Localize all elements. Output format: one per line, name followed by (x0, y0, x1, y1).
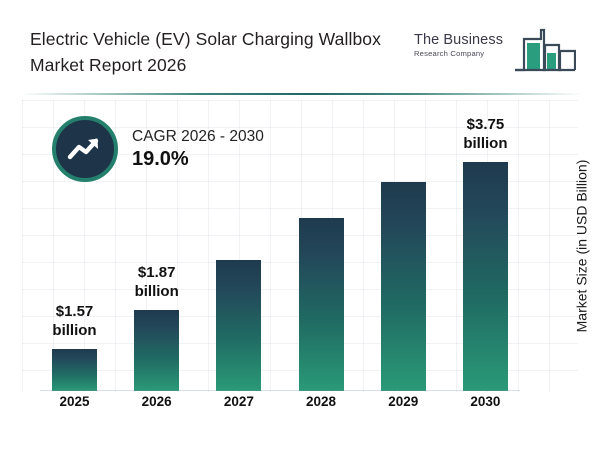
x-tick-2030: 2030 (463, 394, 508, 418)
logo-company-name: The Business (414, 32, 519, 48)
bar-2027[interactable] (216, 260, 261, 391)
x-tick-2026: 2026 (134, 394, 179, 418)
x-tick-2025: 2025 (52, 394, 97, 418)
bar-slot: $3.75billion (463, 100, 508, 391)
bar-slot: $1.87billion (134, 100, 179, 391)
bar-slot (216, 100, 261, 391)
chart-baseline (40, 390, 520, 391)
bar-2029[interactable] (381, 182, 426, 391)
bar-slot: $1.57billion (52, 100, 97, 391)
bar-2030[interactable] (463, 162, 508, 391)
y-axis-title-text: Market Size (in USD Billion) (573, 160, 589, 333)
bar-value-label: $1.87billion (135, 263, 179, 301)
page-title: Electric Vehicle (EV) Solar Charging Wal… (30, 26, 400, 78)
logo-company-subtitle: Research Company (414, 49, 519, 58)
chart-plot-area: $1.57billion$1.87billion$3.75billion (40, 100, 520, 391)
bar-slot (299, 100, 344, 391)
header: Electric Vehicle (EV) Solar Charging Wal… (0, 0, 600, 92)
x-axis-tick-labels: 202520262027202820292030 (40, 394, 520, 418)
bar-value-label: $3.75billion (463, 115, 507, 153)
x-tick-2028: 2028 (299, 394, 344, 418)
x-tick-2027: 2027 (216, 394, 261, 418)
bar-2028[interactable] (299, 218, 344, 391)
header-divider (20, 93, 582, 95)
company-logo: The Business Research Company (414, 26, 582, 80)
bar-2025[interactable] (52, 349, 97, 391)
bar-series: $1.57billion$1.87billion$3.75billion (40, 100, 520, 391)
bar-chart-skyline-icon (514, 26, 576, 81)
y-axis-title: Market Size (in USD Billion) (568, 100, 594, 392)
bar-2026[interactable] (134, 310, 179, 391)
bar-slot (381, 100, 426, 391)
bar-value-label: $1.57billion (52, 302, 96, 340)
logo-wordmark: The Business Research Company (414, 32, 519, 58)
x-tick-2029: 2029 (381, 394, 426, 418)
